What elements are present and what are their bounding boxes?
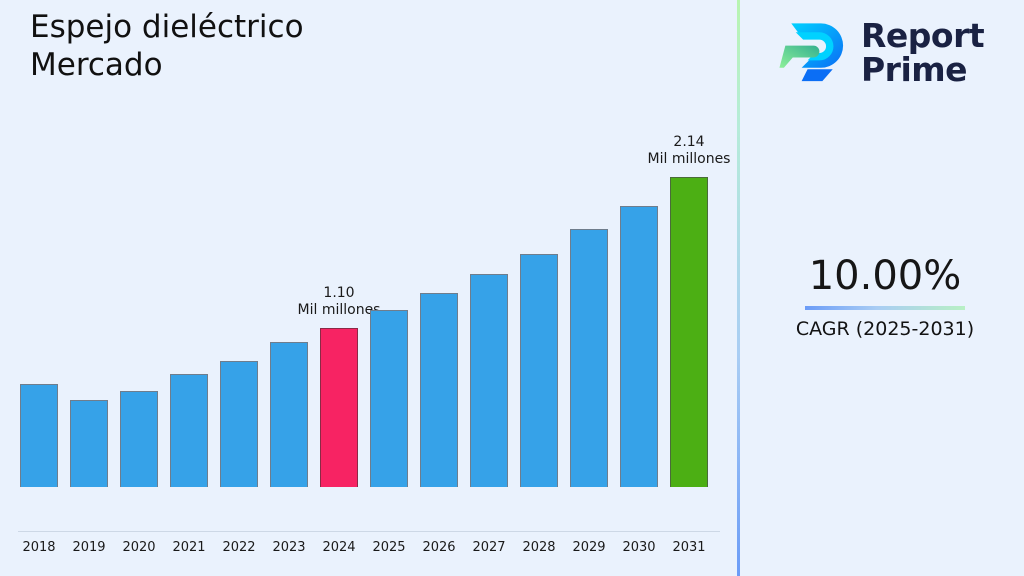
cagr-rule [805,306,965,310]
x-tick-2020: 2020 [120,540,158,555]
chart-plot-area: 1.10Mil millones2.14Mil millones [0,100,737,532]
bar-2030[interactable] [620,206,658,487]
bar-2031[interactable] [670,177,708,487]
bar-2021[interactable] [170,374,208,487]
x-tick-2018: 2018 [20,540,58,555]
x-tick-2023: 2023 [270,540,308,555]
x-tick-2028: 2028 [520,540,558,555]
x-tick-2022: 2022 [220,540,258,555]
x-tick-2031: 2031 [670,540,708,555]
chart-page: Espejo dieléctrico Mercado [0,0,1024,576]
x-tick-2027: 2027 [470,540,508,555]
cagr-value: 10.00% [760,252,1010,300]
bar-2020[interactable] [120,391,158,487]
bar-2025[interactable] [370,310,408,487]
bar-2019[interactable] [70,400,108,487]
bar-value-2031: 2.14 [614,134,764,151]
bar-2018[interactable] [20,384,58,487]
bar-2027[interactable] [470,274,508,487]
bar-chart: 1.10Mil millones2.14Mil millones 2018201… [0,100,737,576]
cagr-label: CAGR (2025-2031) [760,317,1010,341]
brand-name: Report Prime [861,19,984,87]
brand-logo: Report Prime [775,12,1005,94]
cagr-block: 10.00% CAGR (2025-2031) [760,252,1010,341]
bar-2023[interactable] [270,342,308,487]
x-tick-2030: 2030 [620,540,658,555]
bar-2024[interactable] [320,328,358,487]
bar-2029[interactable] [570,229,608,487]
page-title: Espejo dieléctrico Mercado [30,8,590,84]
x-tick-2026: 2026 [420,540,458,555]
bar-value-2024: 1.10 [264,285,414,302]
brand-line-2: Prime [861,50,967,89]
bar-value-label-2031: 2.14Mil millones [614,134,764,168]
x-tick-2029: 2029 [570,540,608,555]
report-prime-logo-icon [775,16,849,90]
panel-divider [737,0,740,576]
bar-2028[interactable] [520,254,558,487]
x-tick-2025: 2025 [370,540,408,555]
x-tick-2019: 2019 [70,540,108,555]
bar-2022[interactable] [220,361,258,487]
x-tick-2024: 2024 [320,540,358,555]
bar-2026[interactable] [420,293,458,487]
chart-x-axis: 2018201920202021202220232024202520262027… [0,532,737,576]
x-tick-2021: 2021 [170,540,208,555]
bar-unit-2031: Mil millones [614,151,764,168]
